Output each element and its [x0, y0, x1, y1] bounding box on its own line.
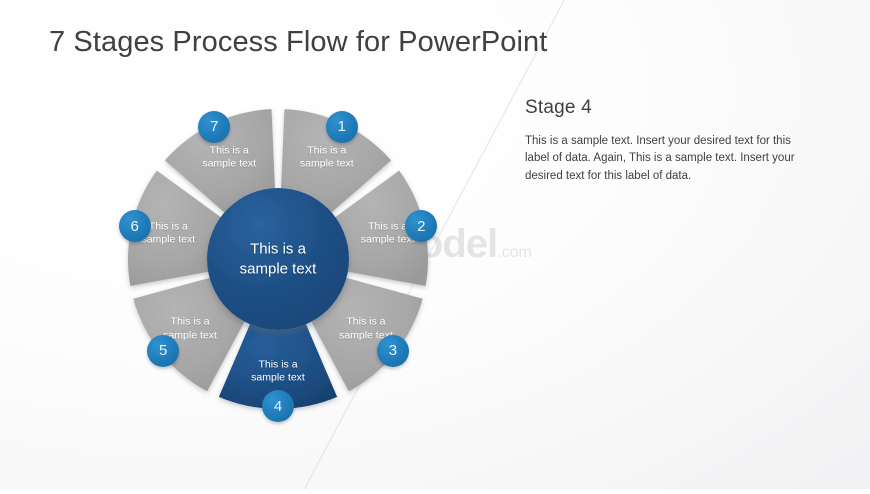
wheel-hub[interactable] — [207, 188, 349, 330]
stage-badge-4[interactable]: 4 — [262, 390, 294, 422]
wheel-svg — [0, 0, 870, 489]
stage-body-text: This is a sample text. Insert your desir… — [525, 133, 815, 185]
stage-badge-6[interactable]: 6 — [119, 210, 151, 242]
stage-badge-3[interactable]: 3 — [377, 335, 409, 367]
stage-heading: Stage 4 — [525, 97, 815, 119]
stage-badge-7[interactable]: 7 — [198, 111, 230, 143]
stage-detail-panel: Stage 4 This is a sample text. Insert yo… — [525, 97, 815, 185]
process-wheel-diagram: This is a sample text1This is a sample t… — [0, 0, 870, 489]
stage-badge-1[interactable]: 1 — [326, 111, 358, 143]
stage-badge-2[interactable]: 2 — [405, 210, 437, 242]
slide-canvas: 7 Stages Process Flow for PowerPoint Sli… — [0, 0, 870, 489]
stage-badge-5[interactable]: 5 — [147, 335, 179, 367]
